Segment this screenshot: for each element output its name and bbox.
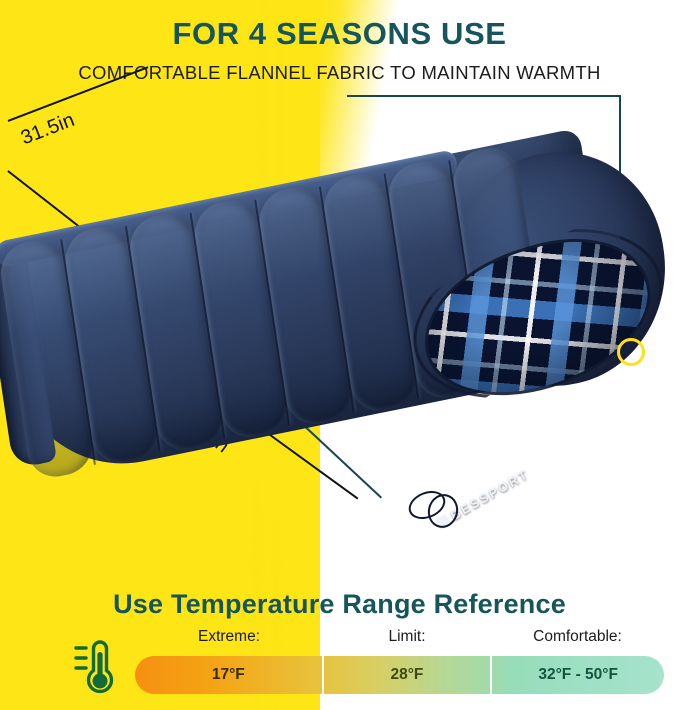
zipper-highlight-circle-icon: [617, 338, 645, 366]
temperature-value-limit: 28°F: [322, 656, 493, 694]
temperature-labels-row: Extreme: Limit: Comfortable:: [135, 628, 664, 650]
page-title: FOR 4 SEASONS USE: [0, 16, 679, 52]
temperature-value-comfortable: 32°F - 50°F: [492, 656, 664, 694]
temperature-section-title: Use Temperature Range Reference: [0, 589, 679, 620]
temperature-label-comfortable: Comfortable:: [491, 628, 664, 650]
leader-line-horizontal: [347, 95, 621, 97]
temperature-label-extreme: Extreme:: [135, 628, 323, 650]
page-subtitle: COMFORTABLE FLANNEL FABRIC TO MAINTAIN W…: [0, 62, 679, 84]
thermometer-icon: [70, 636, 122, 696]
product-infographic: FOR 4 SEASONS USE COMFORTABLE FLANNEL FA…: [0, 0, 679, 710]
sleeping-bag-image: BESSPORT: [0, 160, 679, 540]
temperature-value-extreme: 17°F: [135, 656, 322, 694]
temperature-range-bar: 17°F 28°F 32°F - 50°F: [135, 656, 664, 694]
temperature-label-limit: Limit:: [323, 628, 491, 650]
